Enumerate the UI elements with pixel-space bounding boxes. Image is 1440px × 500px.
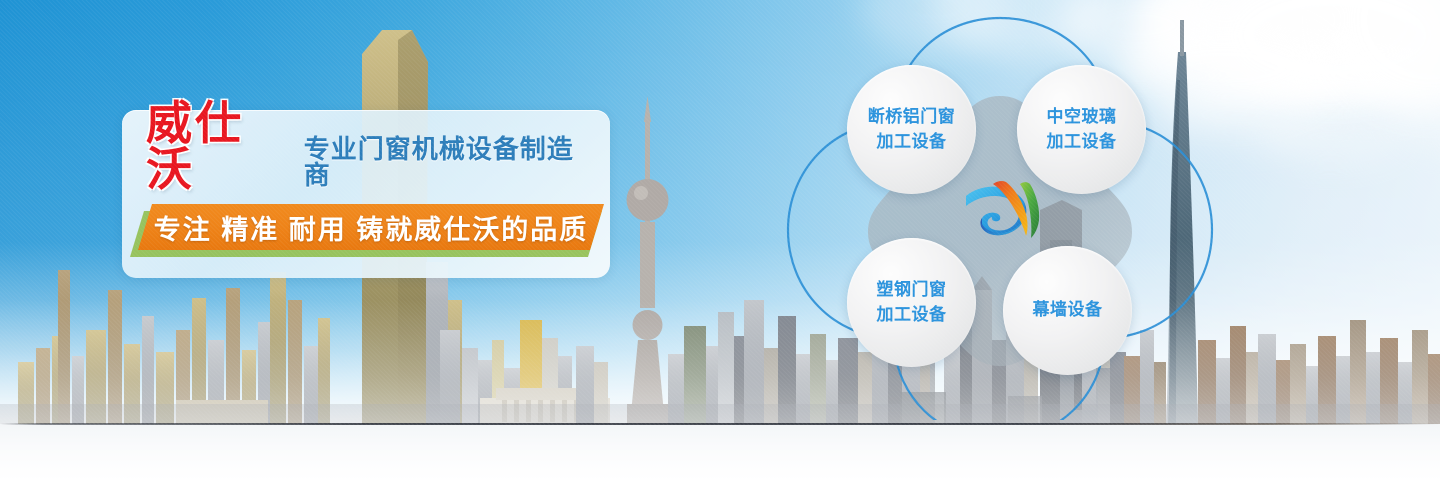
brand-row: 威仕沃 专业门窗机械设备制造商 [146, 130, 586, 192]
bubble-label-line2: 加工设备 [877, 303, 947, 328]
slogan-ribbon: 专注 精准 耐用 铸就威仕沃的品质 [130, 204, 602, 258]
bubble-sugang[interactable]: 塑钢门窗 加工设备 [847, 238, 976, 367]
brand-name: 威仕沃 [146, 100, 286, 192]
brand-panel: 威仕沃 专业门窗机械设备制造商 专注 精准 耐用 铸就威仕沃的品质 [122, 110, 610, 278]
ribbon-body: 专注 精准 耐用 铸就威仕沃的品质 [138, 204, 604, 250]
bubble-label-line1: 断桥铝门窗 [868, 105, 956, 130]
bubble-label-line1: 塑钢门窗 [877, 278, 947, 303]
bubble-label-line2: 加工设备 [877, 130, 947, 155]
bubble-muqiang[interactable]: 幕墙设备 [1003, 246, 1132, 375]
bubble-label-line1: 幕墙设备 [1033, 298, 1103, 323]
bubble-label-line2: 加工设备 [1047, 130, 1117, 155]
promotional-banner: 威仕沃 专业门窗机械设备制造商 专注 精准 耐用 铸就威仕沃的品质 [0, 0, 1440, 500]
bubble-zhongkongboli[interactable]: 中空玻璃 加工设备 [1017, 65, 1146, 194]
water-surface [0, 424, 1440, 500]
bubble-label-line1: 中空玻璃 [1047, 105, 1117, 130]
ribbon-slogan-text: 专注 精准 耐用 铸就威仕沃的品质 [154, 208, 589, 247]
horizon-line [0, 423, 1440, 425]
bubble-duanqiaolv[interactable]: 断桥铝门窗 加工设备 [847, 65, 976, 194]
brand-tagline: 专业门窗机械设备制造商 [304, 136, 586, 192]
